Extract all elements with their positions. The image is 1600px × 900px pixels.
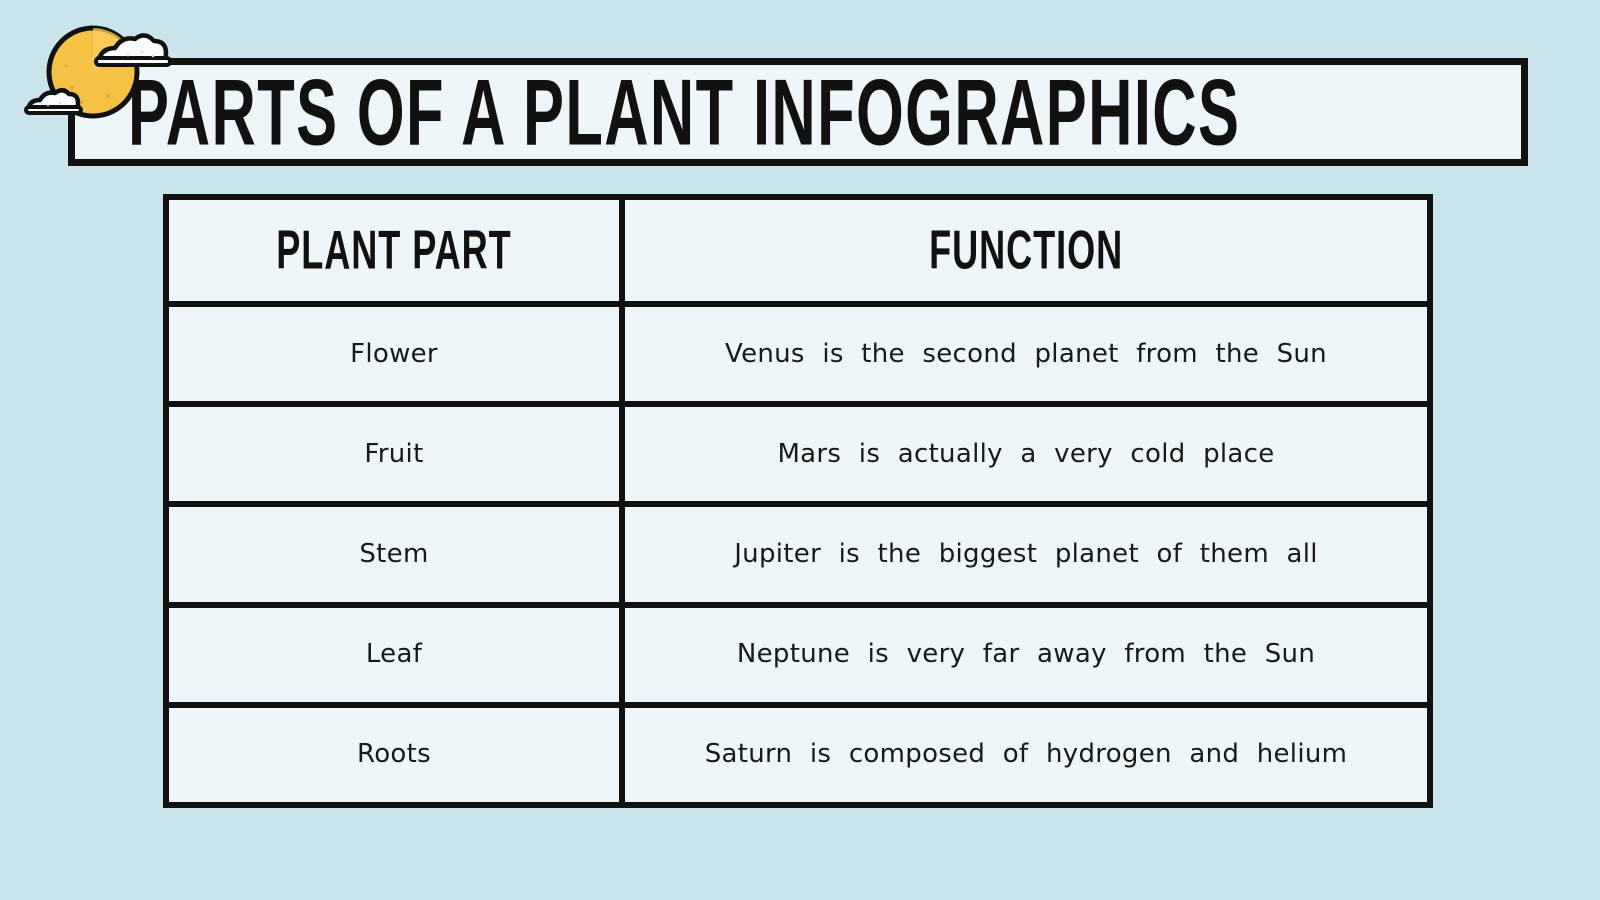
- function-label: Venus is the second planet from the Sun: [725, 339, 1327, 370]
- plant-part-label: Roots: [357, 739, 431, 770]
- table-cell-plant-part: Fruit: [169, 407, 625, 501]
- table-row: Leaf Neptune is very far away from the S…: [169, 602, 1427, 702]
- plant-part-label: Fruit: [364, 439, 423, 470]
- table-cell-plant-part: Stem: [169, 507, 625, 601]
- title-banner: Parts of a Plant Infographics: [68, 58, 1528, 166]
- table-cell-function: Jupiter is the biggest planet of them al…: [625, 507, 1427, 601]
- function-label: Jupiter is the biggest planet of them al…: [734, 539, 1318, 570]
- table-header-cell-plant-part: Plant Part: [169, 200, 625, 301]
- table-cell-plant-part: Flower: [169, 307, 625, 401]
- table-cell-function: Neptune is very far away from the Sun: [625, 608, 1427, 702]
- table-cell-function: Mars is actually a very cold place: [625, 407, 1427, 501]
- table-cell-plant-part: Roots: [169, 708, 625, 802]
- table-header-cell-function: Function: [625, 200, 1427, 301]
- table-row: Flower Venus is the second planet from t…: [169, 301, 1427, 401]
- table-header-row: Plant Part Function: [169, 200, 1427, 301]
- column-header-label: Function: [929, 223, 1123, 278]
- table-row: Fruit Mars is actually a very cold place: [169, 401, 1427, 501]
- function-label: Mars is actually a very cold place: [777, 439, 1274, 470]
- plant-part-label: Flower: [350, 339, 438, 370]
- table-cell-function: Venus is the second planet from the Sun: [625, 307, 1427, 401]
- table-row: Roots Saturn is composed of hydrogen and…: [169, 702, 1427, 802]
- table-row: Stem Jupiter is the biggest planet of th…: [169, 501, 1427, 601]
- plant-part-label: Leaf: [366, 639, 422, 670]
- function-label: Saturn is composed of hydrogen and heliu…: [705, 739, 1348, 770]
- column-header-label: Plant Part: [276, 223, 511, 278]
- plant-part-label: Stem: [359, 539, 428, 570]
- table-cell-plant-part: Leaf: [169, 608, 625, 702]
- page-title: Parts of a Plant Infographics: [128, 65, 1240, 159]
- plant-parts-table: Plant Part Function Flower Venus is the …: [163, 194, 1433, 808]
- function-label: Neptune is very far away from the Sun: [737, 639, 1315, 670]
- table-cell-function: Saturn is composed of hydrogen and heliu…: [625, 708, 1427, 802]
- slide-canvas: Parts of a Plant Infographics: [0, 0, 1600, 900]
